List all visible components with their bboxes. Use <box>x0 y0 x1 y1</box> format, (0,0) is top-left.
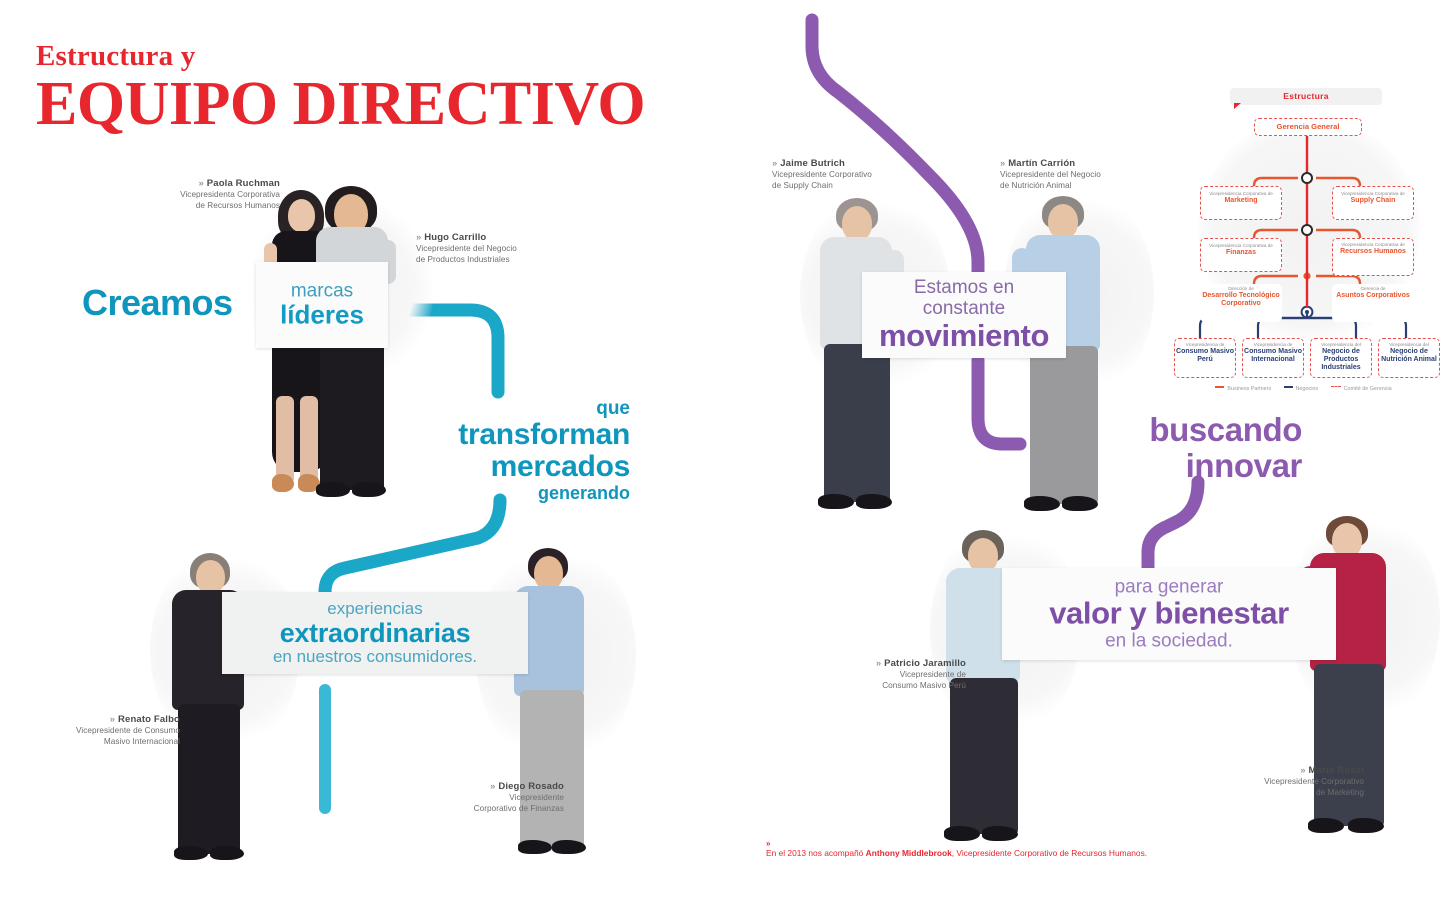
org-box-gerencia-general: Gerencia General <box>1254 118 1362 136</box>
person-role-2: de Productos Industriales <box>416 255 596 266</box>
sign2-line2: extraordinarias <box>222 619 528 647</box>
sign4-line2: valor y bienestar <box>1002 598 1336 631</box>
org-box-consumo-masivo-peru: Vicepresidencia de Consumo Masivo Perú <box>1174 338 1236 378</box>
legend-swatch-icon <box>1284 386 1293 388</box>
org-chart: Estructura Gerencia General Vicepresiden… <box>1168 88 1446 360</box>
person-role-1: Vicepresidente Corporativo <box>772 170 952 181</box>
org-box-marketing: Vicepresidencia Corporativa de Marketing <box>1200 186 1282 220</box>
wordart-que: que <box>330 398 630 419</box>
footnote: » En el 2013 nos acompañó Anthony Middle… <box>766 840 1147 859</box>
namelabel-hugo-carrillo: » Hugo Carrillo Vicepresidente del Negoc… <box>416 232 596 265</box>
title-line-2: EQUIPO DIRECTIVO <box>36 73 645 136</box>
chevron-icon: » <box>110 714 115 725</box>
namelabel-mario-rossi: » Mario Rossi Vicepresidente Corporativo… <box>1204 765 1364 798</box>
wordart-transforman: transforman <box>330 419 630 451</box>
wordart-buscando-innovar: buscando innovar <box>1000 412 1302 483</box>
org-box-supply-chain: Vicepresidencia Corporativa de Supply Ch… <box>1332 186 1414 220</box>
namelabel-jaime-butrich: » Jaime Butrich Vicepresidente Corporati… <box>772 158 952 191</box>
person-role-1: Vicepresidente de <box>800 670 966 681</box>
person-name: » Mario Rossi <box>1204 765 1364 777</box>
chevron-icon: » <box>1300 765 1305 776</box>
person-role-1: Vicepresidente Corporativo <box>1204 777 1364 788</box>
person-name: » Hugo Carrillo <box>416 232 596 244</box>
wordart-generando: generando <box>330 483 630 505</box>
person-name: » Patricio Jaramillo <box>800 658 966 670</box>
sign1-line2: líderes <box>256 301 388 328</box>
wordart-mercados: mercados <box>330 451 630 483</box>
sign-experiencias-extraordinarias: experiencias extraordinarias en nuestros… <box>222 592 528 674</box>
person-role-1: Vicepresidente del Negocio <box>1000 170 1180 181</box>
sign3-line2: constante <box>862 299 1066 320</box>
namelabel-paola-ruchman: » Paola Ruchman Vicepresidenta Corporati… <box>120 178 280 211</box>
person-role-1: Vicepresidente <box>404 793 564 804</box>
org-box-desarrollo-tecnologico: Dirección de Desarrollo Tecnológico Corp… <box>1200 284 1282 322</box>
namelabel-diego-rosado: » Diego Rosado Vicepresidente Corporativ… <box>404 781 564 814</box>
wordart-creamos: Creamos <box>82 285 233 321</box>
person-role-2: Corporativo de Finanzas <box>404 804 564 815</box>
sign-marcas-lideres: marcas líderes <box>256 262 388 348</box>
chevron-icon: » <box>876 658 881 669</box>
sign4-line1: para generar <box>1002 576 1336 597</box>
legend-item-comite-gerencia: Comité de Gerencia <box>1331 386 1392 392</box>
sign3-line1: Estamos en <box>862 278 1066 299</box>
person-name: » Paola Ruchman <box>120 178 280 190</box>
sign1-line1: marcas <box>256 281 388 301</box>
footnote-prefix: En el 2013 nos acompañó <box>766 848 866 858</box>
chevron-icon: » <box>772 158 777 169</box>
footnote-name: Anthony Middlebrook <box>866 848 952 858</box>
person-role-2: de Supply Chain <box>772 181 952 192</box>
namelabel-renato-falbo: » Renato Falbo Vicepresidente de Consumo… <box>20 714 180 747</box>
chevron-icon: » <box>766 840 1147 848</box>
sign2-line3: en nuestros consumidores. <box>222 647 528 666</box>
org-box-nutricion-animal: Vicepresidencia del Negocio de Nutrición… <box>1378 338 1440 378</box>
person-name: » Renato Falbo <box>20 714 180 726</box>
person-role-1: Vicepresidente del Negocio <box>416 244 596 255</box>
title-line-1: Estructura y <box>36 42 645 71</box>
namelabel-patricio-jaramillo: » Patricio Jaramillo Vicepresidente de C… <box>800 658 966 691</box>
legend-swatch-icon <box>1215 386 1224 388</box>
wordart-buscando: buscando <box>1000 412 1302 448</box>
org-box-recursos-humanos: Vicepresidencia Corporativa de Recursos … <box>1332 238 1414 276</box>
chevron-icon: » <box>199 178 204 189</box>
sign3-line3: movimiento <box>862 320 1066 353</box>
person-name: » Jaime Butrich <box>772 158 952 170</box>
person-name: » Martín Carrión <box>1000 158 1180 170</box>
footnote-suffix: , Vicepresidente Corporativo de Recursos… <box>952 848 1147 858</box>
org-box-finanzas: Vicepresidencia Corporativa de Finanzas <box>1200 238 1282 272</box>
person-role-2: de Nutrición Animal <box>1000 181 1180 192</box>
person-role-2: Consumo Masivo Perú <box>800 681 966 692</box>
legend-item-negocios: Negocios <box>1284 386 1318 392</box>
sign-estamos-en-movimiento: Estamos en constante movimiento <box>862 272 1066 358</box>
person-role-1: Vicepresidenta Corporativa <box>120 190 280 201</box>
legend-swatch-dashed-icon <box>1331 386 1341 387</box>
annual-report-spread: Estructura y EQUIPO DIRECTIVO <box>0 0 1451 911</box>
org-box-consumo-masivo-internacional: Vicepresidencia de Consumo Masivo Intern… <box>1242 338 1304 378</box>
wordart-innovar: innovar <box>1000 448 1302 484</box>
chevron-icon: » <box>416 232 421 243</box>
person-role-2: de Recursos Humanos <box>120 201 280 212</box>
legend-item-business-partners: Business Partners <box>1215 386 1271 392</box>
org-chart-legend: Business Partners Negocios Comité de Ger… <box>1186 386 1432 392</box>
sign2-line1: experiencias <box>222 600 528 619</box>
org-box-productos-industriales: Vicepresidencia del Negocio de Productos… <box>1310 338 1372 378</box>
person-role-2: de Marketing <box>1204 788 1364 799</box>
wordart-que-transforman: que transforman mercados generando <box>330 398 630 504</box>
sign4-line3: en la sociedad. <box>1002 630 1336 651</box>
person-role-1: Vicepresidente de Consumo <box>20 726 180 737</box>
person-name: » Diego Rosado <box>404 781 564 793</box>
person-role-2: Masivo Internacional <box>20 737 180 748</box>
page-title: Estructura y EQUIPO DIRECTIVO <box>36 42 645 136</box>
chevron-icon: » <box>490 781 495 792</box>
org-box-asuntos-corporativos: Gerencia de Asuntos Corporativos <box>1332 284 1414 322</box>
chevron-icon: » <box>1000 158 1005 169</box>
namelabel-martin-carrion: » Martín Carrión Vicepresidente del Nego… <box>1000 158 1180 191</box>
sign-valor-y-bienestar: para generar valor y bienestar en la soc… <box>1002 568 1336 660</box>
